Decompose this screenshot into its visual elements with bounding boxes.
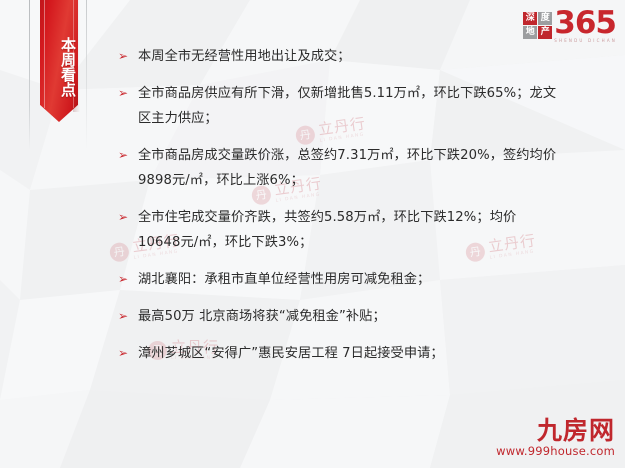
- list-item-text: 漳州芗城区“安得广”惠民安居工程 7日起接受申请；: [138, 341, 558, 366]
- brand-logo-subtitle: SHENDU DICHAN: [554, 38, 617, 43]
- brand-logo-character-grid: 深 度 地 产: [523, 12, 552, 39]
- highlights-list: ➢ 本周全市无经营性用地出让及成交； ➢ 全市商品房供应有所下滑，仅新增批售5.…: [118, 44, 558, 378]
- arrow-bullet-icon: ➢: [118, 267, 138, 292]
- list-item: ➢ 最高50万 北京商场将获“减免租金”补贴；: [118, 304, 558, 329]
- brand-cell-shen: 深: [523, 12, 537, 25]
- list-item: ➢ 全市住宅成交量价齐跌，共签约5.58万㎡，环比下跌12%；均价10648元/…: [118, 205, 558, 255]
- brand-logo-number-block: 365 SHENDU DICHAN: [554, 9, 617, 43]
- arrow-bullet-icon: ➢: [118, 143, 138, 168]
- list-item-text: 本周全市无经营性用地出让及成交；: [138, 44, 558, 69]
- site-logo: 九房网 www.999house.com: [496, 417, 615, 458]
- brand-cell-chan: 产: [538, 26, 552, 39]
- list-item-text: 最高50万 北京商场将获“减免租金”补贴；: [138, 304, 558, 329]
- list-item: ➢ 全市商品房供应有所下滑，仅新增批售5.11万㎡，环比下跌65%；龙文区主力供…: [118, 81, 558, 131]
- section-ribbon: 本周看点: [40, 0, 78, 122]
- ribbon-guide-line-right: [86, 0, 87, 150]
- slide-canvas: 本周看点 深 度 地 产 365 SHENDU DICHAN 丹 立丹行 LI …: [0, 0, 625, 468]
- ribbon-guide-line-left: [29, 0, 30, 150]
- brand-cell-di: 地: [523, 26, 537, 39]
- brand-cell-du: 度: [538, 12, 552, 25]
- ribbon-label: 本周看点: [40, 0, 78, 122]
- arrow-bullet-icon: ➢: [118, 44, 138, 69]
- site-logo-url: www.999house.com: [496, 444, 615, 458]
- arrow-bullet-icon: ➢: [118, 304, 138, 329]
- brand-logo-number: 365: [554, 9, 617, 37]
- list-item-text: 全市商品房成交量跌价涨，总签约7.31万㎡，环比下跌20%，签约均价9898元/…: [138, 143, 558, 193]
- arrow-bullet-icon: ➢: [118, 341, 138, 366]
- arrow-bullet-icon: ➢: [118, 81, 138, 106]
- list-item: ➢ 漳州芗城区“安得广”惠民安居工程 7日起接受申请；: [118, 341, 558, 366]
- list-item: ➢ 湖北襄阳：承租市直单位经营性用房可减免租金；: [118, 267, 558, 292]
- list-item-text: 全市住宅成交量价齐跌，共签约5.58万㎡，环比下跌12%；均价10648元/㎡，…: [138, 205, 558, 255]
- brand-logo: 深 度 地 产 365 SHENDU DICHAN: [523, 9, 617, 43]
- list-item: ➢ 本周全市无经营性用地出让及成交；: [118, 44, 558, 69]
- site-logo-name: 九房网: [496, 417, 615, 444]
- arrow-bullet-icon: ➢: [118, 205, 138, 230]
- list-item: ➢ 全市商品房成交量跌价涨，总签约7.31万㎡，环比下跌20%，签约均价9898…: [118, 143, 558, 193]
- list-item-text: 全市商品房供应有所下滑，仅新增批售5.11万㎡，环比下跌65%；龙文区主力供应；: [138, 81, 558, 131]
- list-item-text: 湖北襄阳：承租市直单位经营性用房可减免租金；: [138, 267, 558, 292]
